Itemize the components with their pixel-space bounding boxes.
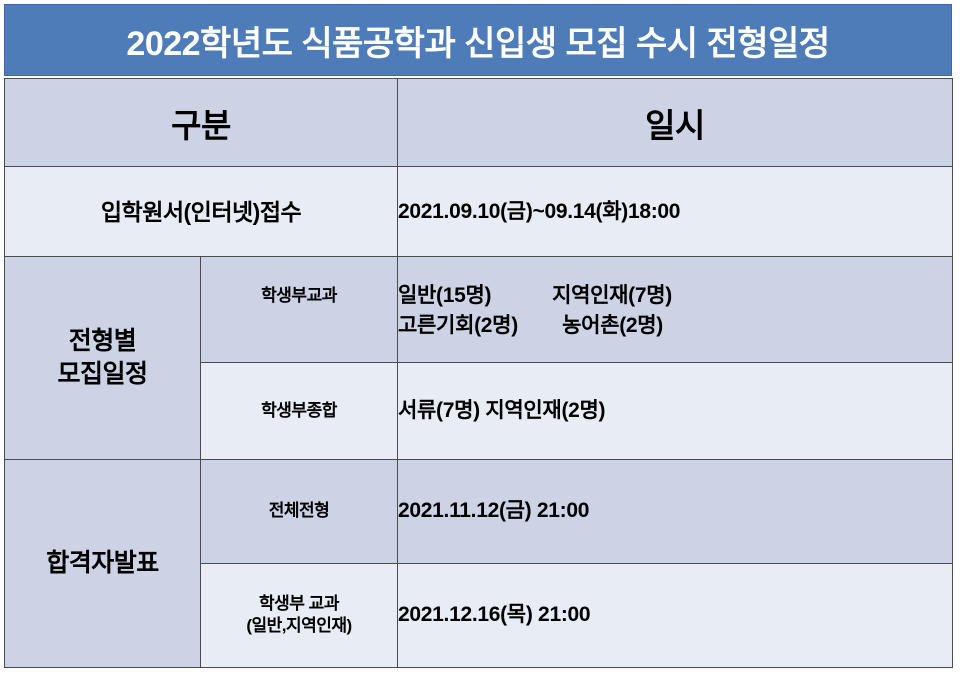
category-announcement: 합격자발표 [5, 459, 201, 667]
value-all-types-date: 2021.11.12(금) 21:00 [398, 459, 953, 563]
subcategory-gyogwa: 학생부교과 [201, 257, 398, 363]
admission-schedule-page: 2022학년도 식품공학과 신입생 모집 수시 전형일정 구분 일시 입학원서(… [0, 0, 960, 674]
value-application-date: 2021.09.10(금)~09.14(화)18:00 [398, 167, 953, 257]
value-gyogwa-line2: 고른기회(2명) 농어촌(2명) [398, 311, 952, 341]
subcategory-last-line2: (일반,지역인재) [246, 616, 351, 635]
category-selection-line1: 전형별 [69, 327, 137, 355]
table-row-all-types: 합격자발표 전체전형 2021.11.12(금) 21:00 [5, 459, 953, 563]
subcategory-jonghap: 학생부종합 [201, 363, 398, 459]
table-header-row: 구분 일시 [5, 79, 953, 167]
admission-schedule-table: 구분 일시 입학원서(인터넷)접수 2021.09.10(금)~09.14(화)… [4, 78, 953, 668]
category-selection-line2: 모집일정 [57, 360, 147, 388]
value-jonghap-quotas: 서류(7명) 지역인재(2명) [398, 363, 953, 459]
table-row-gyogwa: 전형별 모집일정 학생부교과 일반(15명) 지역인재(7명) 고른기회(2명)… [5, 257, 953, 363]
value-gyogwa-line1: 일반(15명) 지역인재(7명) [398, 281, 952, 311]
value-last-date: 2021.12.16(목) 21:00 [398, 563, 953, 667]
page-title: 2022학년도 식품공학과 신입생 모집 수시 전형일정 [126, 16, 829, 65]
value-gyogwa-quotas: 일반(15명) 지역인재(7명) 고른기회(2명) 농어촌(2명) [398, 257, 953, 363]
subcategory-all-types: 전체전형 [201, 459, 398, 563]
category-application: 입학원서(인터넷)접수 [5, 167, 398, 257]
subcategory-gyogwa-announcement: 학생부 교과 (일반,지역인재) [201, 563, 398, 667]
category-selection-schedule: 전형별 모집일정 [5, 257, 201, 459]
subcategory-last-line1: 학생부 교과 [259, 594, 339, 613]
column-header-category: 구분 [5, 79, 398, 167]
page-banner: 2022학년도 식품공학과 신입생 모집 수시 전형일정 [4, 4, 952, 76]
column-header-schedule: 일시 [398, 79, 953, 167]
table-row-application: 입학원서(인터넷)접수 2021.09.10(금)~09.14(화)18:00 [5, 167, 953, 257]
